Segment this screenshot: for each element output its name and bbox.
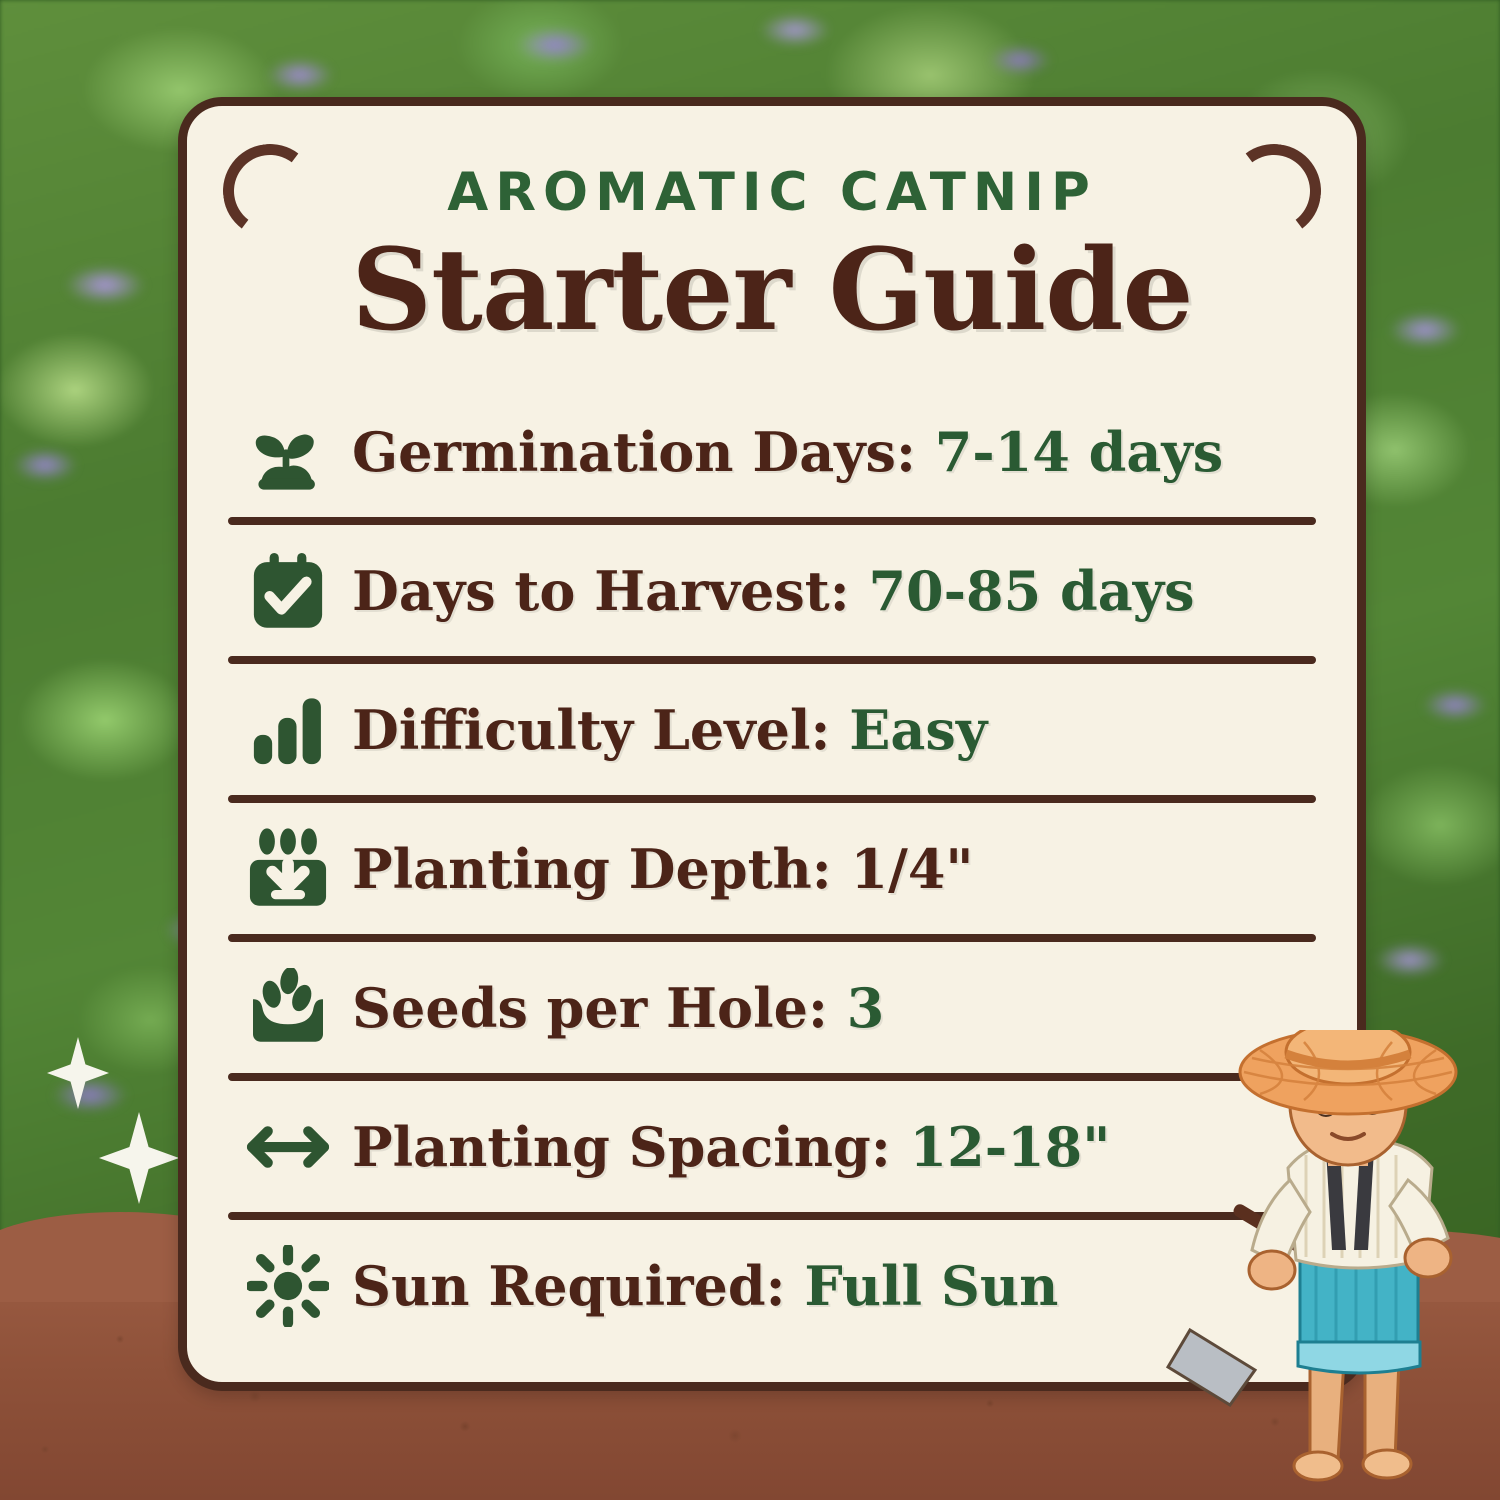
list-item: Planting Depth: 1/4" <box>224 803 1320 934</box>
list-item-value: Easy <box>849 698 987 762</box>
sun-icon <box>224 1245 352 1327</box>
list-item-text: Planting Depth: 1/4" <box>352 837 974 901</box>
list-item: Planting Spacing: 12-18" <box>224 1081 1320 1212</box>
list-item: Seeds per Hole: 3 <box>224 942 1320 1073</box>
list-item-text: Germination Days: 7-14 days <box>352 420 1223 484</box>
list-item-text: Days to Harvest: 70-85 days <box>352 559 1194 623</box>
list-item-label: Germination Days <box>352 420 896 484</box>
guide-graphic: AROMATIC CATNIP Starter Guide Germinatio… <box>0 0 1500 1500</box>
list-item-label: Planting Depth <box>352 837 812 901</box>
page-title: Starter Guide <box>187 225 1357 356</box>
list-item-value: 70-85 days <box>868 559 1194 623</box>
divider <box>228 1073 1316 1081</box>
list-item-text: Planting Spacing: 12-18" <box>352 1115 1110 1179</box>
list-item-label: Difficulty Level <box>352 698 811 762</box>
divider <box>228 795 1316 803</box>
list-item-value: Full Sun <box>804 1254 1058 1318</box>
horizontal-arrows-icon <box>224 1116 352 1178</box>
gardener-illustration <box>1160 1030 1500 1500</box>
list-item-value: 3 <box>847 976 885 1040</box>
list-item: Days to Harvest: 70-85 days <box>224 525 1320 656</box>
list-item-text: Sun Required: Full Sun <box>352 1254 1058 1318</box>
list-item: Germination Days: 7-14 days <box>224 386 1320 517</box>
list-item-label: Planting Spacing <box>352 1115 871 1179</box>
divider <box>228 934 1316 942</box>
seeds-in-hole-icon <box>224 968 352 1048</box>
list-item-value: 7-14 days <box>935 420 1223 484</box>
list-item: Sun Required: Full Sun <box>224 1220 1320 1351</box>
list-item-text: Difficulty Level: Easy <box>352 698 987 762</box>
bar-chart-icon <box>224 691 352 769</box>
calendar-check-icon <box>224 549 352 633</box>
card-kicker: AROMATIC CATNIP <box>187 162 1357 223</box>
divider <box>228 517 1316 525</box>
seedling-icon <box>224 409 352 495</box>
list-item-label: Seeds per Hole <box>352 976 808 1040</box>
list-item-label: Days to Harvest <box>352 559 830 623</box>
seed-depth-icon <box>224 827 352 911</box>
list-item-text: Seeds per Hole: 3 <box>352 976 884 1040</box>
list-item-value: 1/4" <box>851 837 974 901</box>
list-item: Difficulty Level: Easy <box>224 664 1320 795</box>
divider <box>228 1212 1316 1220</box>
divider <box>228 656 1316 664</box>
list-item-value: 12-18" <box>910 1115 1111 1179</box>
list-item-label: Sun Required <box>352 1254 766 1318</box>
